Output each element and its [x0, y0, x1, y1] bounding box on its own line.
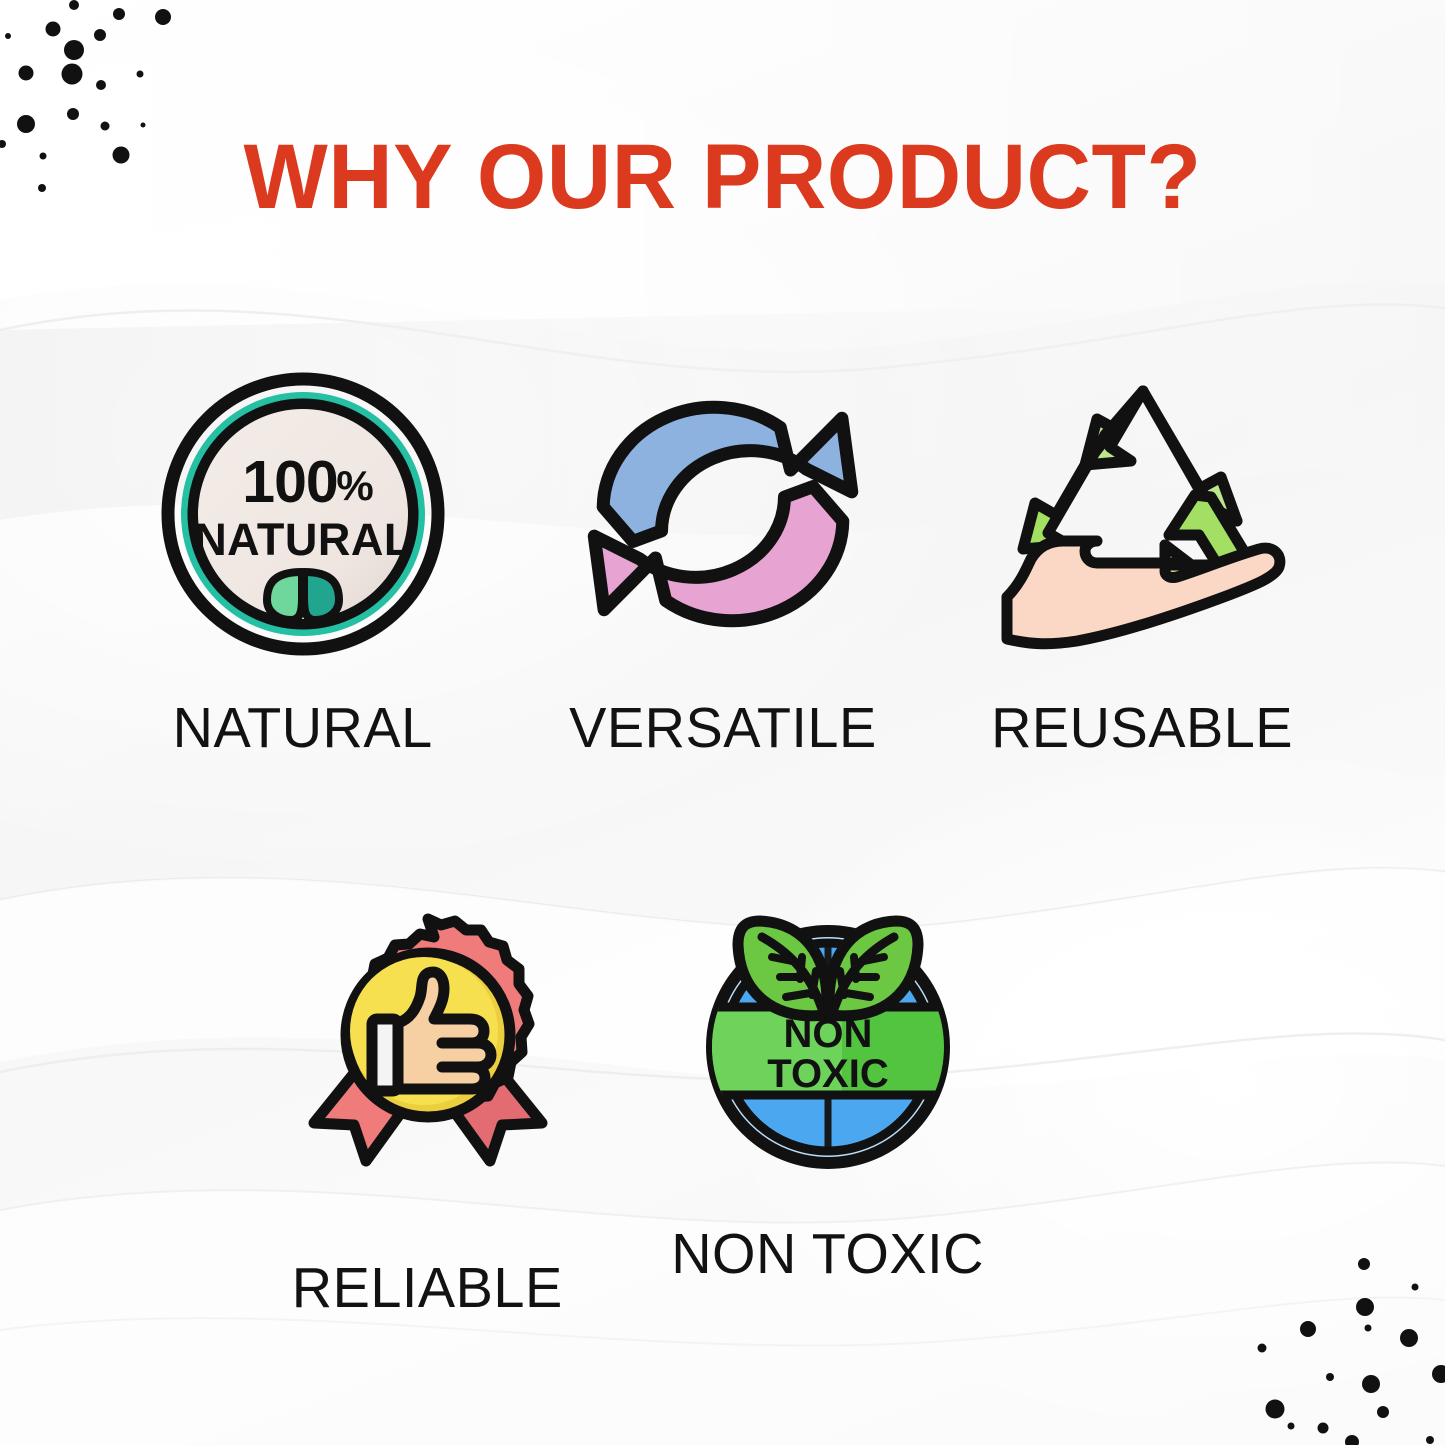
feature-non-toxic[interactable]: NON TOXIC: [628, 896, 1028, 1317]
feature-label-natural: NATURAL: [172, 700, 432, 757]
svg-text:100: 100: [242, 449, 337, 515]
feature-label-versatile: VERSATILE: [569, 700, 877, 757]
row-spacer: [123, 896, 228, 1317]
feature-reliable[interactable]: RELIABLE: [228, 896, 628, 1317]
natural-badge-icon-wrap: 100 % NATURAL: [159, 368, 447, 660]
infographic-canvas: WHY OUR PRODUCT?: [0, 0, 1445, 1445]
ribbon-thumbs-up-icon-wrap: [292, 896, 564, 1188]
refresh-arrows-icon: [563, 383, 883, 645]
feature-reusable[interactable]: REUSABLE: [933, 368, 1353, 757]
recycle-on-hand-icon-wrap: [993, 368, 1293, 660]
feature-label-reliable: RELIABLE: [292, 1260, 563, 1317]
feature-natural[interactable]: 100 % NATURAL NATURAL: [93, 368, 513, 757]
feature-versatile[interactable]: VERSATILE: [513, 368, 933, 757]
recycle-on-hand-icon: [993, 369, 1293, 659]
svg-text:%: %: [336, 462, 373, 509]
non-toxic-globe-icon-wrap: NON TOXIC: [702, 896, 954, 1188]
badge-text-toxic: TOXIC: [767, 1052, 889, 1096]
svg-text:NATURAL: NATURAL: [194, 514, 412, 565]
ribbon-thumbs-up-icon: [292, 911, 564, 1173]
refresh-arrows-icon-wrap: [563, 368, 883, 660]
feature-row-bottom: RELIABLE: [0, 896, 1445, 1317]
natural-badge-icon: 100 % NATURAL: [159, 370, 447, 658]
non-toxic-globe-icon: NON TOXIC: [702, 911, 954, 1173]
feature-row-top: 100 % NATURAL NATURAL: [0, 368, 1445, 757]
feature-label-reusable: REUSABLE: [992, 700, 1294, 757]
page-title: WHY OUR PRODUCT?: [22, 131, 1424, 223]
row-spacer-right: [1028, 896, 1323, 1317]
feature-label-non-toxic: NON TOXIC: [671, 1226, 984, 1283]
